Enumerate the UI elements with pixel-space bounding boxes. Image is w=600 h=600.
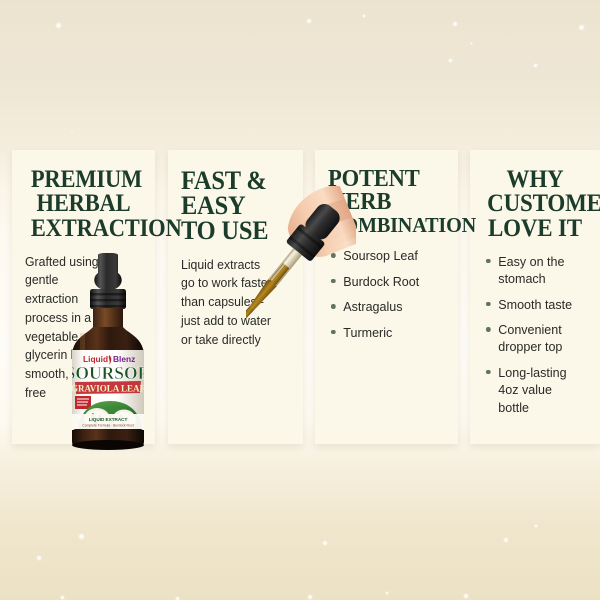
sparkle-dot bbox=[60, 595, 65, 600]
card-4-bullet-list: Easy on the stomach Smooth taste Conveni… bbox=[483, 253, 587, 416]
benefit-cards-row: PREMIUM HERBAL EXTRACTION Grafted using … bbox=[0, 150, 600, 444]
list-item: Convenient dropper top bbox=[485, 321, 582, 356]
heading-line: WHY bbox=[487, 168, 583, 192]
card-why-customers-love-it[interactable]: WHY CUSTOMERS LOVE IT Easy on the stomac… bbox=[470, 150, 600, 444]
heading-line: CUSTOMERS bbox=[487, 192, 583, 216]
card-fast-and-easy-to-use[interactable]: FAST & EASY TO USE Liquid extracts go to… bbox=[168, 150, 303, 444]
list-item: Long-lasting 4oz value bottle bbox=[485, 364, 582, 416]
sparkle-dot bbox=[533, 63, 538, 68]
sparkle-dot bbox=[362, 14, 366, 18]
sparkle-dot bbox=[322, 540, 328, 546]
list-item: Soursop Leaf bbox=[330, 247, 439, 264]
card-2-heading: FAST & EASY TO USE bbox=[181, 168, 283, 244]
sparkle-dot bbox=[36, 555, 42, 561]
card-3-bullet-list: Soursop Leaf Burdock Root Astragalus Tur… bbox=[328, 247, 445, 341]
sparkle-dot bbox=[385, 591, 389, 595]
card-1-heading: PREMIUM HERBAL EXTRACTION bbox=[31, 168, 136, 241]
card-premium-herbal-extraction[interactable]: PREMIUM HERBAL EXTRACTION Grafted using … bbox=[12, 150, 155, 444]
card-4-heading: WHY CUSTOMERS LOVE IT bbox=[487, 168, 583, 241]
heading-line: LOVE IT bbox=[487, 217, 583, 241]
list-item: Easy on the stomach bbox=[485, 253, 582, 288]
sparkle-dot bbox=[448, 58, 453, 63]
sparkle-dot bbox=[78, 533, 85, 540]
sparkle-dot bbox=[578, 24, 585, 31]
card-3-heading: POTENT HERB COMBINATION bbox=[328, 168, 438, 235]
card-2-body-text: Liquid extracts go to work faster than c… bbox=[181, 256, 274, 350]
card-1-body-text: Grafted using a gentle extraction proces… bbox=[25, 253, 113, 403]
heading-line: PREMIUM bbox=[31, 168, 136, 192]
heading-line: EXTRACTION bbox=[31, 217, 136, 241]
sparkle-dot bbox=[470, 42, 473, 45]
list-item: Burdock Root bbox=[330, 273, 439, 290]
sparkle-dot bbox=[503, 537, 509, 543]
sparkle-dot bbox=[175, 596, 180, 600]
list-item: Turmeric bbox=[330, 324, 439, 341]
sparkle-dot bbox=[55, 22, 62, 29]
heading-line: HERBAL bbox=[31, 192, 136, 216]
heading-line: EASY bbox=[181, 193, 283, 218]
sparkle-dot bbox=[452, 21, 458, 27]
heading-line: FAST & bbox=[181, 168, 283, 193]
heading-line: POTENT bbox=[328, 168, 438, 191]
sparkle-dot bbox=[307, 594, 313, 600]
list-item: Astragalus bbox=[330, 298, 439, 315]
sparkle-dot bbox=[306, 18, 312, 24]
sparkle-dot bbox=[534, 524, 538, 528]
card-potent-herb-combination[interactable]: POTENT HERB COMBINATION Soursop Leaf Bur… bbox=[315, 150, 458, 444]
heading-line: TO USE bbox=[181, 218, 283, 243]
heading-line: HERB bbox=[328, 191, 438, 214]
list-item: Smooth taste bbox=[485, 296, 582, 313]
heading-line: COMBINATION bbox=[328, 215, 438, 236]
infographic-canvas: PREMIUM HERBAL EXTRACTION Grafted using … bbox=[0, 0, 600, 600]
sparkle-dot bbox=[463, 593, 469, 599]
